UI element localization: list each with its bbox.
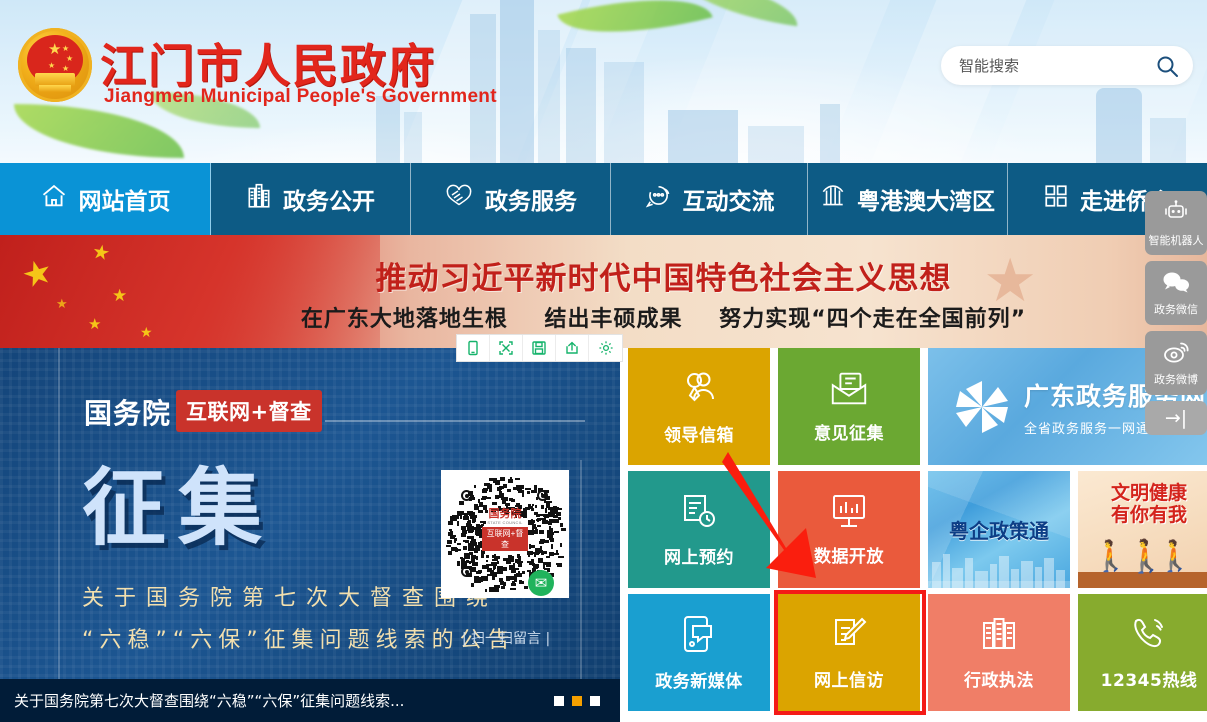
tile-government-new-media[interactable]: 政务新媒体: [628, 594, 770, 711]
robot-icon: [1162, 199, 1190, 230]
search-input[interactable]: [959, 57, 1155, 75]
qr-caption: | 扫一扫留言 |: [440, 628, 572, 648]
tile-label-hotline: 12345热线: [1101, 666, 1198, 691]
tile-yueqi-policy[interactable]: 粤企政策通: [928, 471, 1070, 588]
tile-label-open-data: 数据开放: [814, 542, 884, 567]
nav-label-disclosure: 政务公开: [283, 182, 375, 216]
carousel-ticker-text[interactable]: 关于国务院第七次大督查围绕“六稳”“六保”征集问题线索...: [14, 690, 554, 711]
tile-label-online-appointment: 网上预约: [664, 543, 734, 568]
tile-hotline-12345[interactable]: 12345热线: [1078, 594, 1207, 711]
settings-gear-icon[interactable]: [589, 335, 622, 361]
page-root: ★ ★ ★ ★ ★ 江门市人民政府 Jiangmen Municipal Peo…: [0, 0, 1207, 722]
home-icon: [40, 182, 68, 216]
pinwheel-icon: [954, 379, 1010, 435]
propaganda-banner[interactable]: ★ ★ ★ ★ ★ ★ ★ 推动习近平新时代中国特色社会主义思想 在广东大地落地…: [0, 235, 1207, 348]
qr-badge-title: 国务院: [482, 508, 528, 520]
floatbar-item-weibo[interactable]: 政务微博: [1145, 331, 1207, 395]
wechat-icon: [1161, 270, 1191, 299]
handshake-icon: [444, 182, 474, 216]
floatbar-label-wechat: 政务微信: [1154, 301, 1198, 317]
carousel-divider-left: [58, 348, 60, 688]
tile-label-yueqi-policy: 粤企政策通: [949, 515, 1049, 544]
banner-headline: 推动习近平新时代中国特色社会主义思想: [0, 253, 1207, 298]
tile-label-leader-mailbox: 领导信箱: [664, 421, 734, 446]
tile-row-1: 领导信箱 意见征集: [628, 348, 1207, 465]
nav-item-home[interactable]: 网站首页: [0, 163, 211, 235]
tile-open-data[interactable]: 数据开放: [778, 471, 920, 588]
carousel-divider-right: [580, 460, 582, 688]
site-header: ★ ★ ★ ★ ★ 江门市人民政府 Jiangmen Municipal Peo…: [0, 0, 1207, 163]
tile-online-appointment[interactable]: 网上预约: [628, 471, 770, 588]
floatbar-collapse-button[interactable]: →|: [1145, 401, 1207, 435]
nav-item-interaction[interactable]: 互动交流: [611, 163, 808, 235]
search-icon[interactable]: [1155, 54, 1179, 78]
city-skyline-icon: [928, 544, 1070, 588]
carousel-rule: [325, 420, 585, 422]
runner-icon-3: 🚶: [1156, 542, 1193, 572]
nav-item-greater-bay-area[interactable]: 粤港澳大湾区: [808, 163, 1008, 235]
carousel-dot-1[interactable]: [554, 696, 564, 706]
envelope-icon: [828, 370, 870, 413]
main-navigation: 网站首页 政务公开 政务服务: [0, 163, 1207, 235]
banner-subline: 在广东大地落地生根 结出丰硕成果 努力实现“四个走在全国前列”: [0, 301, 1207, 333]
banner-sub-3: 努力实现“四个走在全国前列”: [719, 307, 1026, 332]
collapse-arrow-icon[interactable]: →|: [1165, 407, 1187, 429]
floatbar-item-wechat[interactable]: 政务微信: [1145, 261, 1207, 325]
phone-call-icon: [1128, 615, 1170, 660]
tile-civilized-health[interactable]: 文明健康 有你有我 🚶 🚶 🚶: [1078, 471, 1207, 588]
chat-bubble-icon: [644, 182, 672, 216]
grid-squares-icon: [1043, 183, 1069, 215]
document-clock-icon: [679, 492, 719, 537]
civil-health-line2: 有你有我: [1111, 504, 1187, 526]
tile-label-online-petition: 网上信访: [814, 666, 884, 691]
document-pen-icon: [829, 615, 869, 660]
nav-label-gba: 粤港澳大湾区: [857, 182, 995, 216]
monitor-chart-icon: [829, 493, 869, 536]
national-emblem-icon: ★ ★ ★ ★ ★: [18, 28, 92, 102]
nav-label-home: 网站首页: [79, 182, 171, 216]
tile-row-2: 网上预约 数据开放: [628, 471, 1207, 588]
bridge-icon: [820, 182, 846, 216]
nav-label-services: 政务服务: [485, 182, 577, 216]
nav-item-government-affairs-disclosure[interactable]: 政务公开: [211, 163, 411, 235]
buildings-icon: [979, 615, 1019, 660]
floating-sidebar: 智能机器人 政务微信 政务微博: [1145, 191, 1207, 441]
tile-label-new-media: 政务新媒体: [655, 667, 743, 692]
carousel-brand: 国务院: [84, 392, 171, 432]
share-icon[interactable]: [556, 335, 589, 361]
tile-administrative-enforcement[interactable]: 行政执法: [928, 594, 1070, 711]
people-icon: [678, 368, 720, 415]
service-tiles: 领导信箱 意见征集: [628, 348, 1207, 722]
banner-sub-2: 结出丰硕成果: [545, 307, 683, 332]
carousel-dot-3[interactable]: [590, 696, 600, 706]
mobile-view-icon[interactable]: [457, 335, 490, 361]
hero-carousel[interactable]: 国务院 互联网+督查 征集 关于国务院第七次大督查围绕 “六稳”“六保”征集问题…: [0, 348, 620, 722]
nav-item-government-services[interactable]: 政务服务: [411, 163, 611, 235]
tile-row-3: 政务新媒体 网上信访: [628, 594, 1207, 711]
main-content: 国务院 互联网+督查 征集 关于国务院第七次大督查围绕 “六稳”“六保”征集问题…: [0, 348, 1207, 722]
floatbar-item-robot[interactable]: 智能机器人: [1145, 191, 1207, 255]
carousel-headline: 征集: [82, 466, 274, 550]
page-tool-bar: [456, 334, 623, 362]
civil-ground: [1078, 572, 1207, 588]
qr-badge-sub: STATE COUNCIL: [482, 520, 528, 525]
qr-badge-tag: 互联网+督查: [482, 527, 528, 551]
tile-label-enforcement: 行政执法: [964, 666, 1034, 691]
floatbar-label-weibo: 政务微博: [1154, 371, 1198, 387]
carousel-pagination[interactable]: [554, 696, 600, 706]
weibo-icon: [1162, 340, 1190, 369]
floatbar-label-robot: 智能机器人: [1149, 232, 1204, 248]
building-icon: [246, 182, 272, 216]
wechat-logo-icon: ✉: [528, 570, 554, 596]
civil-health-text: 文明健康 有你有我: [1078, 483, 1207, 527]
carousel-ticker[interactable]: 关于国务院第七次大督查围绕“六稳”“六保”征集问题线索...: [0, 679, 620, 722]
tile-opinion-collection[interactable]: 意见征集: [778, 348, 920, 465]
phone-chat-icon: [680, 614, 718, 661]
tile-online-petition[interactable]: 网上信访: [778, 594, 920, 711]
civil-health-line1: 文明健康: [1111, 482, 1187, 504]
site-title-en: Jiangmen Municipal People's Government: [104, 86, 497, 108]
tile-leader-mailbox[interactable]: 领导信箱: [628, 348, 770, 465]
qr-center-badge: 国务院 STATE COUNCIL 互联网+督查: [482, 508, 528, 551]
carousel-dot-2[interactable]: [572, 696, 582, 706]
save-icon[interactable]: [523, 335, 556, 361]
carousel-tag: 互联网+督查: [176, 390, 322, 432]
carousel-subline-1: 关于国务院第七次大督查围绕: [82, 580, 498, 612]
fullscreen-icon[interactable]: [490, 335, 523, 361]
nav-label-interaction: 互动交流: [683, 182, 775, 216]
banner-sub-1: 在广东大地落地生根: [301, 307, 508, 332]
tile-label-opinion-collection: 意见征集: [814, 419, 884, 444]
search-box[interactable]: [941, 46, 1193, 85]
runners-icon: 🚶: [1092, 542, 1129, 572]
